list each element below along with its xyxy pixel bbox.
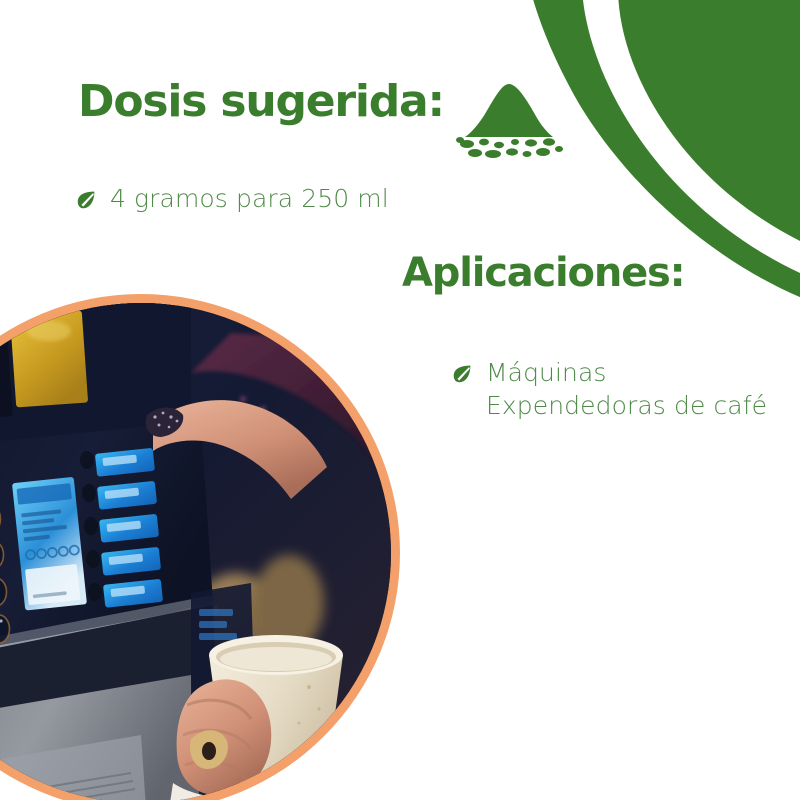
dose-bullet-text: 4 gramos para 250 ml bbox=[110, 182, 389, 215]
poster-canvas: Dosis sugerida: 4 gramos para 250 ml bbox=[0, 0, 800, 800]
dose-bullet-row: 4 gramos para 250 ml bbox=[76, 182, 496, 215]
leaf-bullet-icon bbox=[76, 189, 97, 210]
photo-circle-frame: KAWA CZARNA KAWA Z MLEKIEM ESPRESSO bbox=[0, 294, 400, 800]
coffee-powder-pile-icon bbox=[455, 78, 565, 163]
photo-clip: KAWA CZARNA KAWA Z MLEKIEM ESPRESSO bbox=[0, 303, 391, 800]
leaf-bullet-icon bbox=[452, 363, 473, 384]
application-bullet-row: Máquinas Expendedoras de café bbox=[452, 356, 782, 422]
application-bullet-text: Máquinas Expendedoras de café bbox=[486, 356, 782, 422]
dosis-heading: Dosis sugerida: bbox=[78, 76, 444, 127]
aplicaciones-heading: Aplicaciones: bbox=[402, 250, 684, 296]
coffee-vending-machine-photo: KAWA CZARNA KAWA Z MLEKIEM ESPRESSO bbox=[0, 303, 391, 800]
